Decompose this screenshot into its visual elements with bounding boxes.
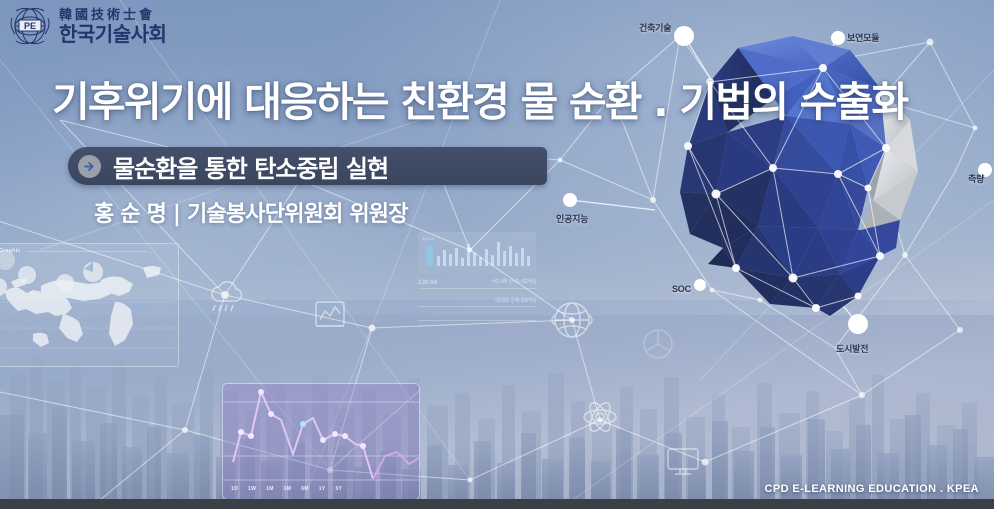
range-option[interactable]: 6M — [301, 486, 309, 492]
range-option[interactable]: 1D — [231, 486, 238, 492]
circle-arrow-right-icon — [78, 155, 101, 178]
line-chart-panel: 1D 1W 1M 3M 6M 1Y 5Y — [222, 383, 420, 500]
range-option[interactable]: 1Y — [319, 486, 326, 492]
range-option[interactable]: 5Y — [335, 486, 342, 492]
network-label: 건축기술 — [639, 21, 671, 34]
network-label: 도시발전 — [836, 342, 868, 355]
logo-text-block: 韓國技術士會 한국기술사회 — [59, 9, 166, 44]
page-title: 기후위기에 대응하는 친환경 물 순환 . 기법의 수출화 — [52, 68, 907, 128]
range-option[interactable]: 1M — [266, 486, 274, 492]
network-label: 보연모듈 — [847, 31, 879, 44]
bottom-bar — [0, 499, 994, 509]
network-label: 측량 — [968, 172, 984, 185]
low-poly-sphere-graphic — [618, 16, 948, 346]
range-option[interactable]: 3M — [284, 486, 292, 492]
network-label: 인공지능 — [556, 212, 588, 225]
organization-logo: PE 韓國技術士會 한국기술사회 — [8, 6, 166, 46]
svg-text:PE: PE — [24, 21, 36, 31]
line-chart-icon — [223, 384, 419, 499]
kpea-circular-emblem-icon: PE — [8, 6, 52, 46]
subtitle-bar: 물순환을 통한 탄소중립 실현 — [68, 147, 547, 185]
speaker-line: 홍 순 명 | 기술봉사단위원회 위원장 — [94, 196, 408, 228]
time-range-selector[interactable]: 1D 1W 1M 3M 6M 1Y 5Y — [231, 486, 342, 492]
subtitle-text: 물순환을 통한 탄소중립 실현 — [113, 149, 388, 184]
footer-watermark: CPD E-LEARNING EDUCATION . KPEA — [765, 483, 979, 495]
range-option[interactable]: 1W — [248, 486, 256, 492]
logo-korean: 한국기술사회 — [59, 24, 166, 44]
presentation-slide: Graphic — [0, 0, 994, 509]
network-label: SOC — [672, 284, 691, 294]
logo-hanja: 韓國技術士會 — [59, 9, 166, 22]
